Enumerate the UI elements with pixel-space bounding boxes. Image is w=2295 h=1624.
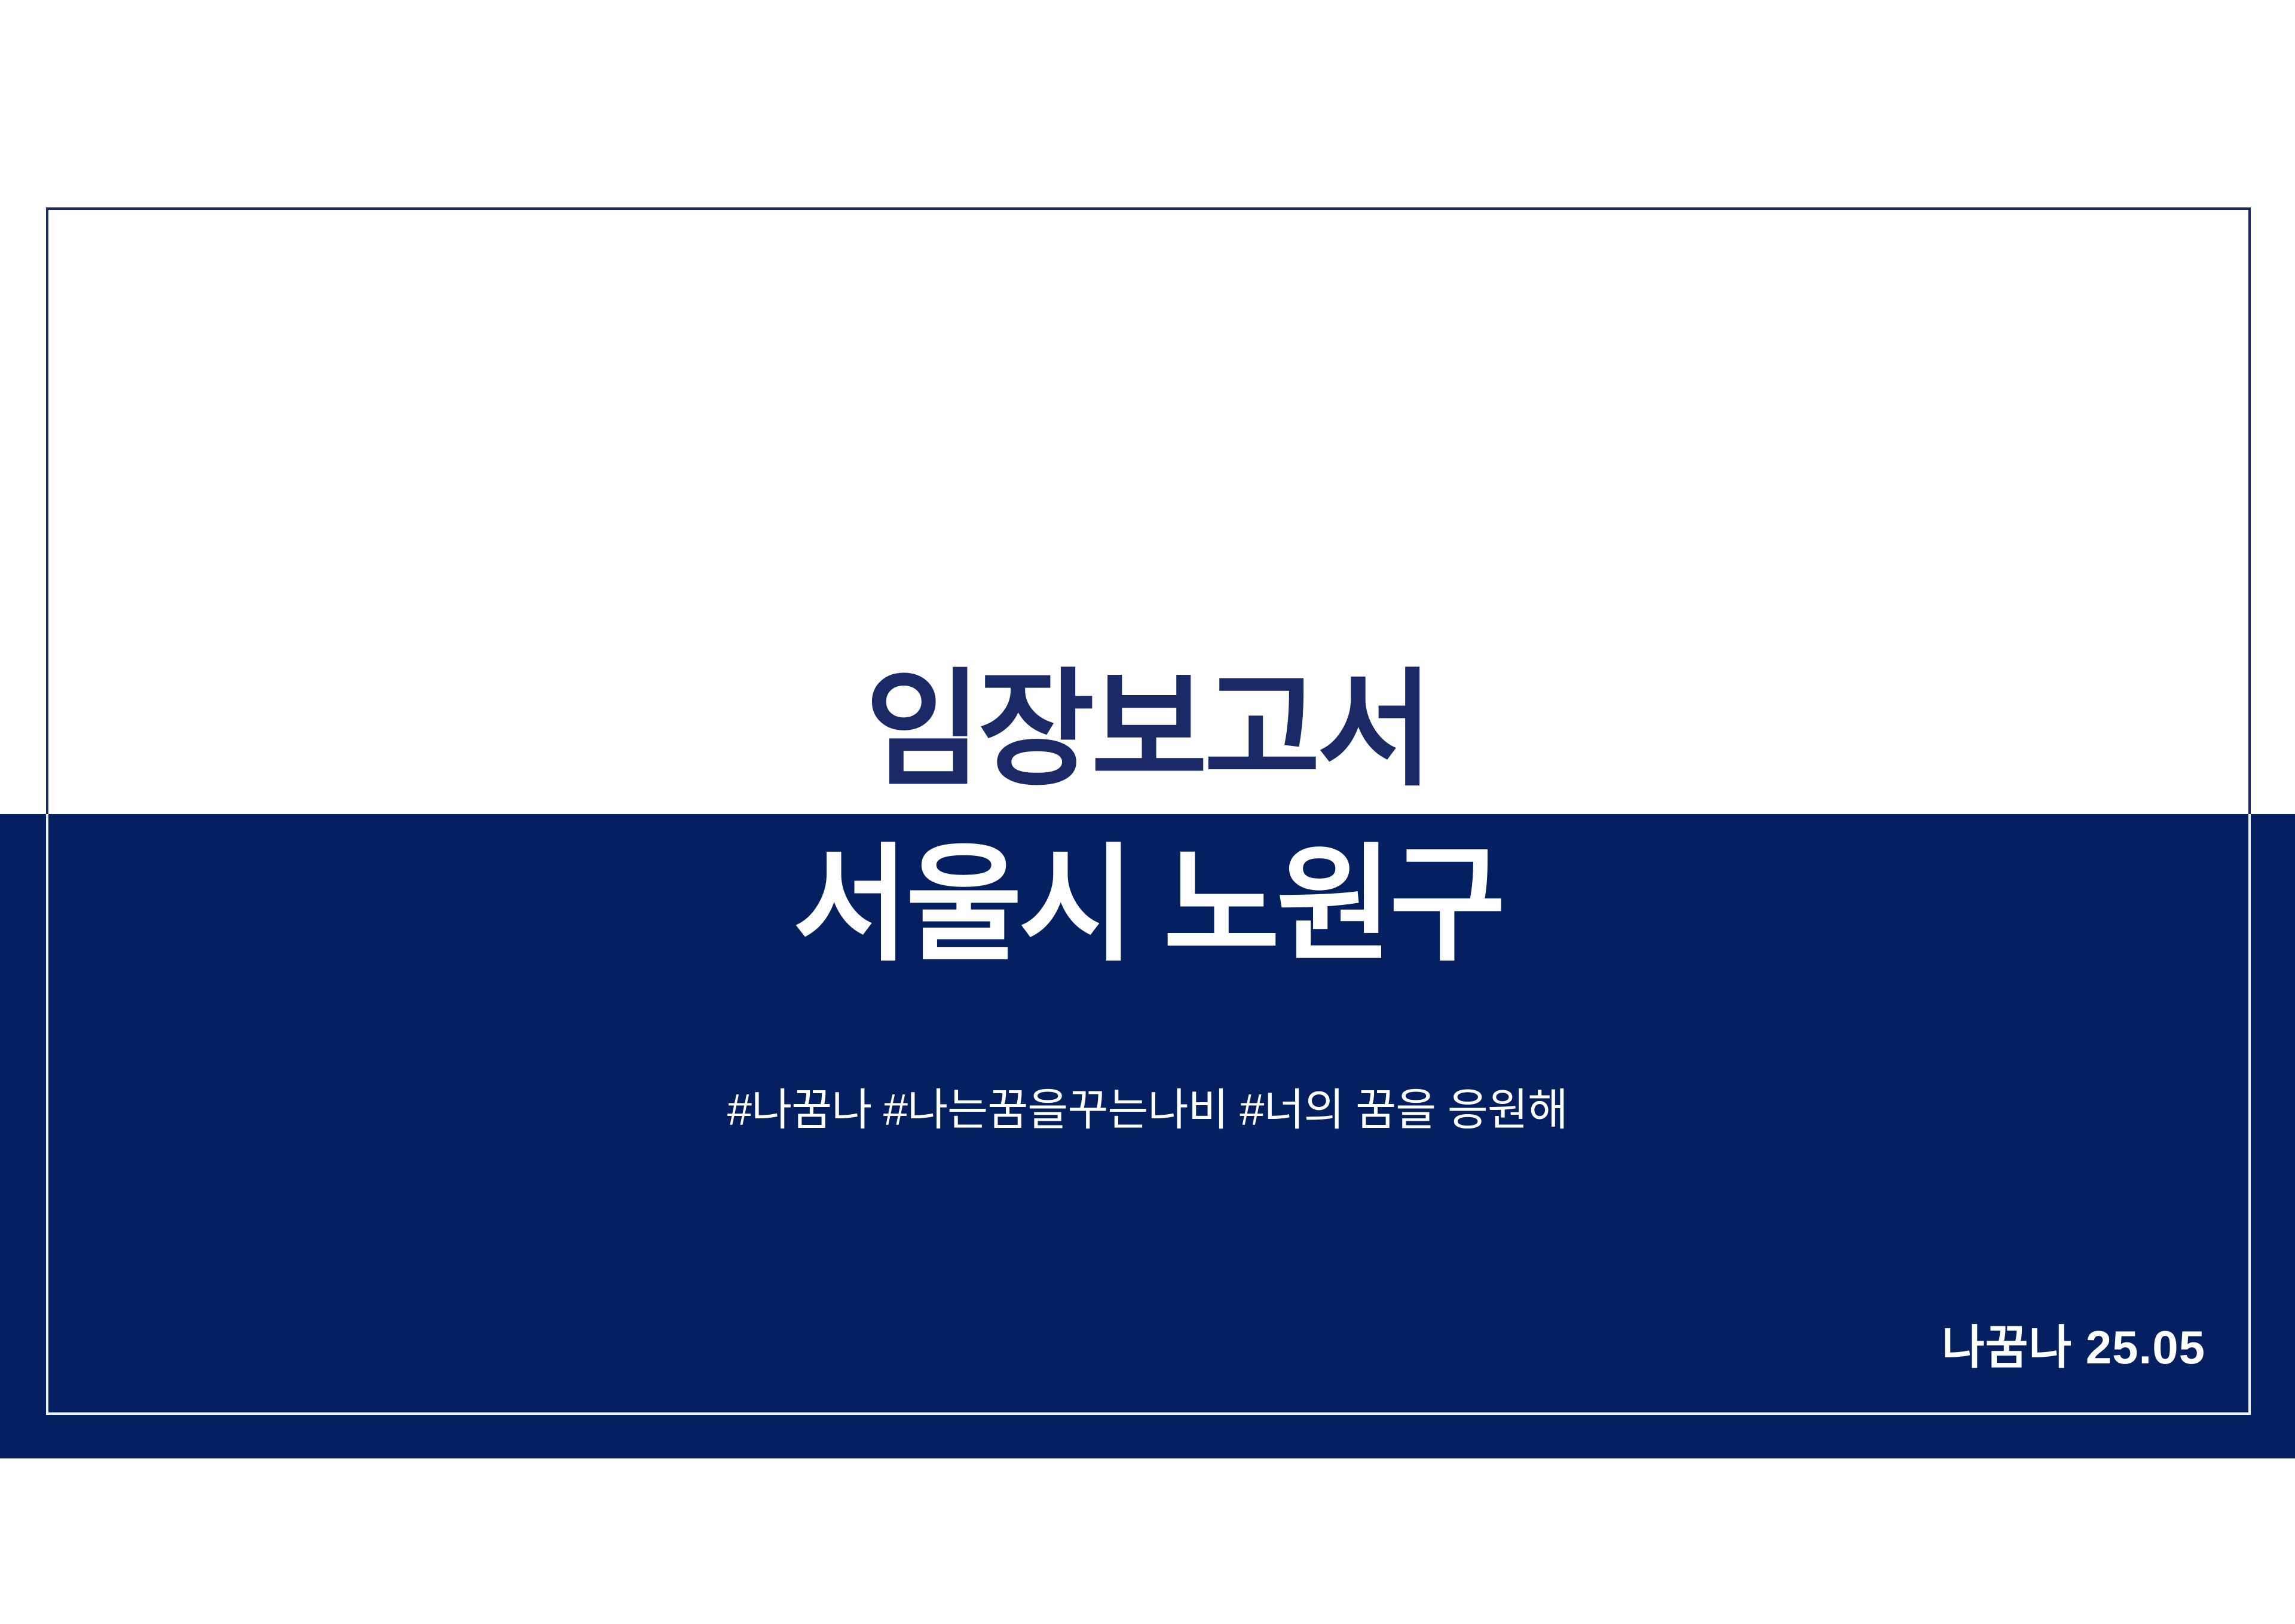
footer-brand-date: 나꿈나 25.05 [1942, 1320, 2205, 1376]
title-line-report: 임장보고서 [0, 643, 2295, 818]
title-slide: 임장보고서 서울시 노원구 #나꿈나 #나는꿈을꾸는나비 #너의 꿈을 응원해 … [0, 0, 2295, 1624]
title-line-location: 서울시 노원구 [0, 818, 2295, 993]
page-title: 임장보고서 서울시 노원구 [0, 643, 2295, 992]
hashtag-tagline: #나꿈나 #나는꿈을꾸는나비 #너의 꿈을 응원해 [0, 1084, 2295, 1137]
